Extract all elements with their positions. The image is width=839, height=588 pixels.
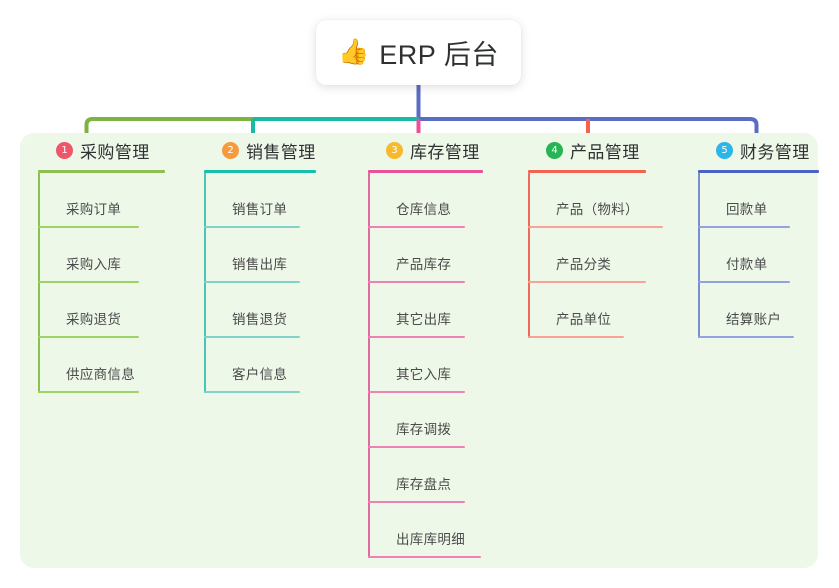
leaf-label: 产品单位	[556, 308, 611, 328]
column-header-2[interactable]: 2销售管理	[204, 133, 316, 167]
leaf-rule	[38, 391, 139, 393]
column-title: 销售管理	[246, 138, 316, 163]
leaf-label: 销售订单	[232, 198, 287, 218]
leaf-node[interactable]: 结算账户	[698, 283, 819, 338]
leaf-node[interactable]: 供应商信息	[38, 338, 165, 393]
column-title: 采购管理	[80, 138, 150, 163]
column-title: 库存管理	[410, 138, 480, 163]
leaf-node[interactable]: 库存盘点	[368, 448, 483, 503]
leaf-node[interactable]: 其它入库	[368, 338, 483, 393]
leaf-rule	[698, 336, 794, 338]
column-container: 1采购管理采购订单采购入库采购退货供应商信息2销售管理销售订单销售出库销售退货客…	[20, 133, 818, 568]
column-body: 采购订单采购入库采购退货供应商信息	[38, 173, 165, 393]
column-采购管理: 1采购管理采购订单采购入库采购退货供应商信息	[38, 133, 165, 393]
column-产品管理: 4产品管理产品（物料）产品分类产品单位	[528, 133, 646, 338]
column-header-1[interactable]: 1采购管理	[38, 133, 165, 167]
leaf-label: 结算账户	[726, 308, 781, 328]
leaf-node[interactable]: 采购退货	[38, 283, 165, 338]
leaf-node[interactable]: 客户信息	[204, 338, 316, 393]
column-badge-3: 3	[386, 142, 403, 159]
leaf-label: 出库库明细	[396, 528, 465, 548]
leaf-rule	[204, 391, 300, 393]
leaf-label: 销售退货	[232, 308, 287, 328]
leaf-label: 付款单	[726, 253, 767, 273]
leaf-node[interactable]: 出库库明细	[368, 503, 483, 558]
leaf-node[interactable]: 销售出库	[204, 228, 316, 283]
column-库存管理: 3库存管理仓库信息产品库存其它出库其它入库库存调拨库存盘点出库库明细	[368, 133, 483, 558]
leaf-node[interactable]: 销售订单	[204, 173, 316, 228]
leaf-node[interactable]: 产品库存	[368, 228, 483, 283]
column-body: 销售订单销售出库销售退货客户信息	[204, 173, 316, 393]
leaf-node[interactable]: 采购入库	[38, 228, 165, 283]
column-财务管理: 5财务管理回款单付款单结算账户	[698, 133, 819, 338]
leaf-label: 产品库存	[396, 253, 451, 273]
leaf-label: 采购退货	[66, 308, 121, 328]
column-header-4[interactable]: 4产品管理	[528, 133, 646, 167]
root-node[interactable]: 👍 ERP 后台	[316, 20, 521, 85]
leaf-label: 产品分类	[556, 253, 611, 273]
leaf-node[interactable]: 其它出库	[368, 283, 483, 338]
column-badge-1: 1	[56, 142, 73, 159]
column-body: 产品（物料）产品分类产品单位	[528, 173, 646, 338]
root-title: ERP 后台	[379, 33, 499, 72]
leaf-node[interactable]: 销售退货	[204, 283, 316, 338]
column-badge-4: 4	[546, 142, 563, 159]
leaf-label: 其它出库	[396, 308, 451, 328]
leaf-rule	[368, 556, 481, 558]
leaf-node[interactable]: 仓库信息	[368, 173, 483, 228]
column-销售管理: 2销售管理销售订单销售出库销售退货客户信息	[204, 133, 316, 393]
leaf-label: 其它入库	[396, 363, 451, 383]
column-badge-5: 5	[716, 142, 733, 159]
leaf-label: 库存盘点	[396, 473, 451, 493]
leaf-node[interactable]: 回款单	[698, 173, 819, 228]
leaf-node[interactable]: 采购订单	[38, 173, 165, 228]
leaf-label: 仓库信息	[396, 198, 451, 218]
column-body: 仓库信息产品库存其它出库其它入库库存调拨库存盘点出库库明细	[368, 173, 483, 558]
column-header-5[interactable]: 5财务管理	[698, 133, 819, 167]
column-header-3[interactable]: 3库存管理	[368, 133, 483, 167]
leaf-node[interactable]: 付款单	[698, 228, 819, 283]
column-body: 回款单付款单结算账户	[698, 173, 819, 338]
leaf-label: 销售出库	[232, 253, 287, 273]
leaf-label: 产品（物料）	[556, 198, 639, 218]
column-title: 财务管理	[740, 138, 810, 163]
leaf-rule	[528, 336, 624, 338]
leaf-label: 客户信息	[232, 363, 287, 383]
leaf-label: 采购入库	[66, 253, 121, 273]
leaf-node[interactable]: 产品单位	[528, 283, 646, 338]
thumbs-up-icon: 👍	[338, 40, 369, 65]
leaf-label: 库存调拨	[396, 418, 451, 438]
leaf-node[interactable]: 产品（物料）	[528, 173, 646, 228]
column-badge-2: 2	[222, 142, 239, 159]
leaf-label: 供应商信息	[66, 363, 135, 383]
leaf-label: 回款单	[726, 198, 767, 218]
leaf-node[interactable]: 库存调拨	[368, 393, 483, 448]
column-title: 产品管理	[570, 138, 640, 163]
leaf-label: 采购订单	[66, 198, 121, 218]
leaf-node[interactable]: 产品分类	[528, 228, 646, 283]
